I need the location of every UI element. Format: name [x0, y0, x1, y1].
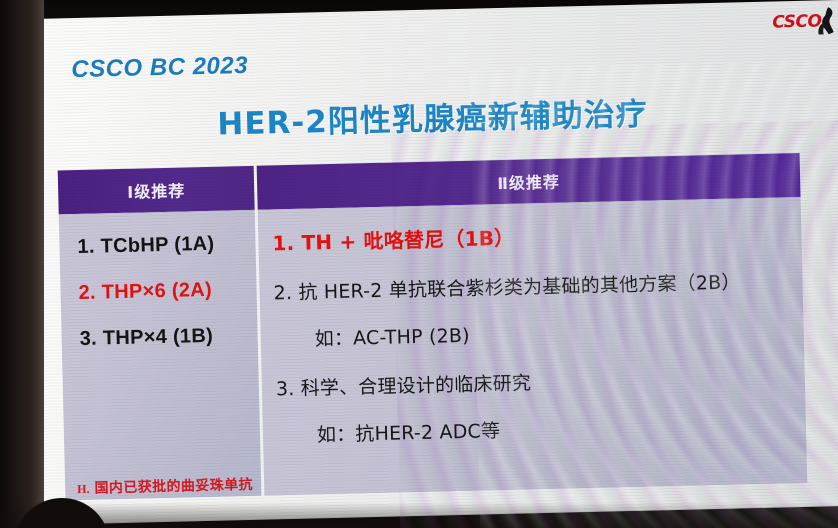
table-body: 1. TCbHP (1A) 2. THP×6 (2A) 3. THP×4 (1B…: [59, 197, 808, 500]
cell-level-1-recommendations: 1. TCbHP (1A) 2. THP×6 (2A) 3. THP×4 (1B…: [59, 210, 262, 501]
cell-level-2-recommendations: 1. TH + 吡咯替尼（1B） 2. 抗 HER-2 单抗联合紫杉类为基础的其…: [258, 197, 808, 496]
column-header-level-1: Ⅰ级推荐: [58, 166, 255, 215]
conference-photo: CSCO BC 2023 HER-2阳性乳腺癌新辅助治疗 Ⅰ级推荐 Ⅱ级推荐 1…: [0, 0, 838, 528]
projection-screen: CSCO BC 2023 HER-2阳性乳腺癌新辅助治疗 Ⅰ级推荐 Ⅱ级推荐 1…: [0, 0, 838, 528]
list-item: 3. THP×4 (1B): [61, 301, 258, 352]
page-title: HER-2阳性乳腺癌新辅助治疗: [14, 84, 838, 149]
footnote-text: 国内已获批的曲妥珠单抗: [94, 474, 253, 498]
recommendation-table: Ⅰ级推荐 Ⅱ级推荐 1. TCbHP (1A) 2. THP×6 (2A) 3.…: [58, 153, 808, 500]
list-item: 1. TCbHP (1A): [59, 210, 256, 260]
list-item: 2. THP×6 (2A): [60, 255, 257, 306]
csco-logo: CSCO: [772, 6, 837, 38]
deck-label: CSCO BC 2023: [71, 52, 248, 84]
room-left-dark-edge: [0, 0, 44, 528]
footnote-key: H.: [77, 482, 90, 497]
csco-bird-mark-icon: [814, 6, 837, 37]
slide-surface: CSCO BC 2023 HER-2阳性乳腺癌新辅助治疗 Ⅰ级推荐 Ⅱ级推荐 1…: [12, 0, 838, 525]
footnote: H. 国内已获批的曲妥珠单抗: [77, 474, 253, 498]
